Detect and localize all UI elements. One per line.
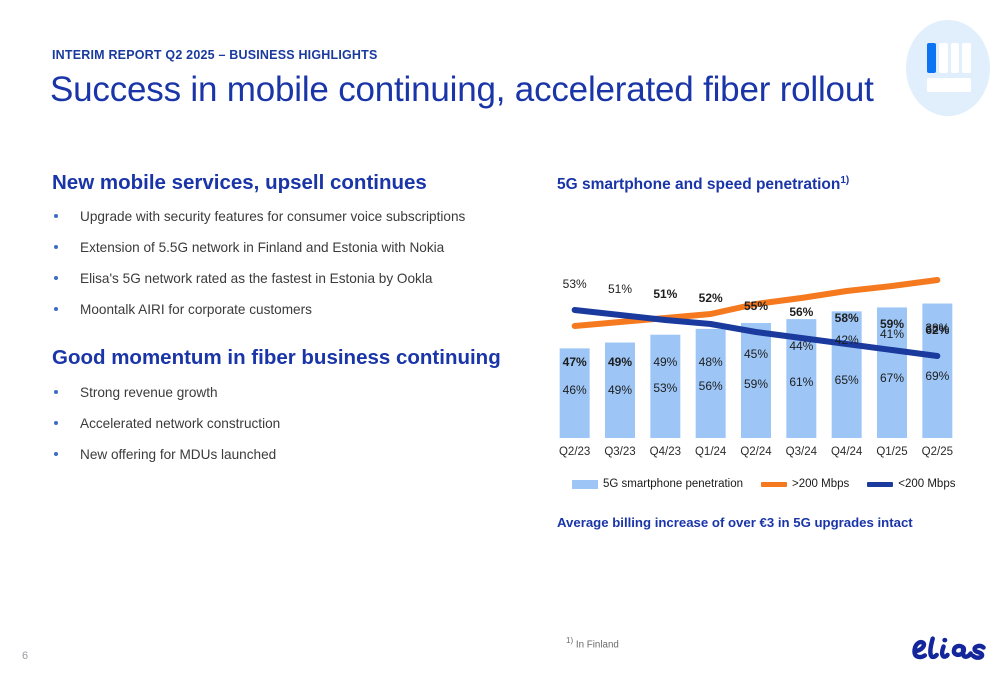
legend-item-bar: 5G smartphone penetration — [572, 478, 743, 490]
label-bar-Q2/24: 59% — [744, 377, 768, 391]
label-under200-Q2/23: 53% — [563, 277, 587, 291]
list-item-text: Moontalk AIRI for corporate customers — [80, 302, 312, 317]
label-over200-Q2/23: 47% — [563, 355, 587, 369]
chart-title-superscript: 1) — [840, 175, 849, 186]
eyebrow-label: INTERIM REPORT Q2 2025 – BUSINESS HIGHLI… — [52, 48, 378, 62]
x-tick-Q1/25: Q1/25 — [876, 446, 907, 458]
list-item: Upgrade with security features for consu… — [52, 209, 465, 226]
list-item: Extension of 5.5G network in Finland and… — [52, 240, 465, 257]
label-bar-Q4/23: 53% — [653, 381, 677, 395]
section-heading-mobile: New mobile services, upsell continues — [52, 171, 427, 195]
elisa-logo — [912, 632, 986, 666]
bullet-list-fiber: Strong revenue growth Accelerated networ… — [52, 385, 280, 478]
x-axis-tick-labels: Q2/23Q3/23Q4/23Q1/24Q2/24Q3/24Q4/24Q1/25… — [552, 446, 960, 462]
brand-badge — [906, 20, 990, 116]
legend-swatch-bar-icon — [572, 480, 598, 489]
list-item-text: Extension of 5.5G network in Finland and… — [80, 240, 444, 255]
list-item-text: Accelerated network construction — [80, 416, 280, 431]
legend-swatch-orange-line-icon — [761, 482, 787, 487]
bullet-list-mobile: Upgrade with security features for consu… — [52, 209, 465, 333]
bullet-dot-icon — [54, 214, 58, 218]
legend-item-under200: <200 Mbps — [867, 478, 955, 490]
legend-item-over200: >200 Mbps — [761, 478, 849, 490]
label-under200-Q3/23: 51% — [608, 282, 632, 296]
list-item: Elisa's 5G network rated as the fastest … — [52, 271, 465, 288]
x-tick-Q3/24: Q3/24 — [786, 446, 817, 458]
chart-note: Average billing increase of over €3 in 5… — [557, 515, 913, 530]
bullet-dot-icon — [54, 390, 58, 394]
label-bar-Q2/25: 69% — [925, 369, 949, 383]
x-tick-Q2/24: Q2/24 — [740, 446, 771, 458]
bullet-dot-icon — [54, 276, 58, 280]
label-over200-Q2/25: 38% — [925, 321, 949, 335]
legend-label-over200: >200 Mbps — [792, 478, 849, 490]
x-tick-Q2/23: Q2/23 — [559, 446, 590, 458]
footnote: 1) In Finland — [566, 636, 619, 650]
badge-bars-icon — [927, 43, 971, 73]
label-bar-Q3/23: 49% — [608, 383, 632, 397]
x-tick-Q4/23: Q4/23 — [650, 446, 681, 458]
label-bar-Q2/23: 46% — [563, 383, 587, 397]
label-under200-Q2/24: 55% — [744, 299, 768, 313]
label-over200-Q3/24: 44% — [789, 339, 813, 353]
list-item: Strong revenue growth — [52, 385, 280, 402]
list-item: Moontalk AIRI for corporate customers — [52, 302, 465, 319]
list-item: Accelerated network construction — [52, 416, 280, 433]
x-tick-Q2/25: Q2/25 — [922, 446, 953, 458]
penetration-chart: 53%51%51%52%55%56%58%59%62%47%49%49%48%4… — [552, 258, 960, 438]
footnote-text: In Finland — [576, 639, 619, 650]
elisa-wordmark-icon — [912, 632, 986, 666]
chart-legend: 5G smartphone penetration >200 Mbps <200… — [572, 478, 955, 490]
legend-swatch-navy-line-icon — [867, 482, 893, 487]
label-over200-Q4/24: 42% — [835, 333, 859, 347]
legend-label-bar: 5G smartphone penetration — [603, 478, 743, 490]
chart-plot-area: 53%51%51%52%55%56%58%59%62%47%49%49%48%4… — [552, 258, 960, 438]
label-bar-Q1/25: 67% — [880, 371, 904, 385]
footnote-marker: 1) — [566, 636, 573, 645]
list-item-text: New offering for MDUs launched — [80, 447, 276, 462]
bullet-dot-icon — [54, 307, 58, 311]
page-number: 6 — [22, 650, 28, 662]
label-bar-Q4/24: 65% — [835, 373, 859, 387]
page-title: Success in mobile continuing, accelerate… — [50, 70, 874, 110]
label-over200-Q2/24: 45% — [744, 347, 768, 361]
x-tick-Q3/23: Q3/23 — [604, 446, 635, 458]
bullet-dot-icon — [54, 452, 58, 456]
label-over200-Q3/23: 49% — [608, 355, 632, 369]
label-bar-Q3/24: 61% — [789, 375, 813, 389]
label-under200-Q3/24: 56% — [789, 305, 813, 319]
chart-title: 5G smartphone and speed penetration1) — [557, 175, 849, 194]
list-item-text: Strong revenue growth — [80, 385, 218, 400]
label-under200-Q1/24: 52% — [699, 291, 723, 305]
legend-label-under200: <200 Mbps — [898, 478, 955, 490]
list-item: New offering for MDUs launched — [52, 447, 280, 464]
label-under200-Q4/24: 58% — [835, 311, 859, 325]
label-over200-Q1/24: 48% — [699, 355, 723, 369]
x-tick-Q4/24: Q4/24 — [831, 446, 862, 458]
chart-title-text: 5G smartphone and speed penetration — [557, 176, 840, 193]
x-tick-Q1/24: Q1/24 — [695, 446, 726, 458]
badge-strip-icon — [927, 78, 971, 92]
list-item-text: Upgrade with security features for consu… — [80, 209, 465, 224]
list-item-text: Elisa's 5G network rated as the fastest … — [80, 271, 432, 286]
label-bar-Q1/24: 56% — [699, 379, 723, 393]
section-heading-fiber: Good momentum in fiber business continui… — [52, 346, 501, 370]
bullet-dot-icon — [54, 245, 58, 249]
label-over200-Q4/23: 49% — [653, 355, 677, 369]
label-under200-Q4/23: 51% — [653, 287, 677, 301]
label-over200-Q1/25: 41% — [880, 327, 904, 341]
slide: INTERIM REPORT Q2 2025 – BUSINESS HIGHLI… — [0, 0, 1000, 685]
bullet-dot-icon — [54, 421, 58, 425]
